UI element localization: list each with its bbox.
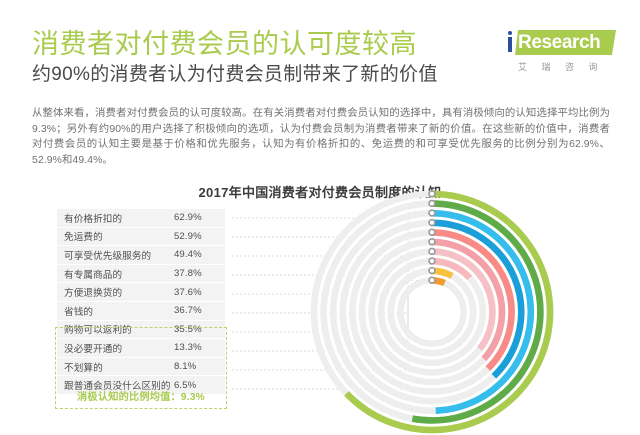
row-label: 有专属商品的 xyxy=(57,267,172,281)
row-label: 有价格折扣的 xyxy=(57,211,172,225)
row-label: 方便退换货的 xyxy=(57,285,172,299)
radial-track xyxy=(400,280,463,343)
infographic-page: 消费者对付费会员的认可度较高 约90%的消费者认为付费会员制带来了新的价值 Re… xyxy=(0,0,640,435)
row-label: 免运费的 xyxy=(57,229,172,243)
radial-marker-dot xyxy=(429,268,435,274)
table-row: 不划算的8.1% xyxy=(57,358,225,377)
table-row: 购物可以返利的35.5% xyxy=(57,321,225,340)
row-label: 可享受优先级服务的 xyxy=(57,248,172,262)
table-row: 可享受优先级服务的49.4% xyxy=(57,246,225,265)
radial-marker-dot xyxy=(429,258,435,264)
radial-marker-dot xyxy=(429,249,435,255)
row-value: 52.9% xyxy=(172,231,225,242)
radial-marker-dot xyxy=(429,277,435,283)
radial-spiral-chart xyxy=(300,188,640,435)
negative-mean-note: 消极认知的比例均值：9.3% xyxy=(57,388,225,403)
table-row: 没必要开通的13.3% xyxy=(57,339,225,358)
row-value: 13.3% xyxy=(172,342,225,353)
radial-marker-dot xyxy=(429,229,435,235)
radial-marker-dot xyxy=(429,210,435,216)
row-value: 62.9% xyxy=(172,212,225,223)
row-value: 8.1% xyxy=(172,361,225,372)
radial-marker-dot xyxy=(429,191,435,197)
row-label: 不划算的 xyxy=(57,360,172,374)
table-row: 免运费的52.9% xyxy=(57,228,225,247)
row-value: 36.7% xyxy=(172,305,225,316)
row-value: 37.6% xyxy=(172,287,225,298)
table-row: 有价格折扣的62.9% xyxy=(57,209,225,228)
table-row: 省钱的36.7% xyxy=(57,302,225,321)
data-table: 有价格折扣的62.9%免运费的52.9%可享受优先级服务的49.4%有专属商品的… xyxy=(57,209,225,395)
row-label: 没必要开通的 xyxy=(57,341,172,355)
radial-gap xyxy=(396,276,469,349)
radial-marker-dot xyxy=(429,220,435,226)
table-row: 有专属商品的37.8% xyxy=(57,265,225,284)
radial-marker-dot xyxy=(429,239,435,245)
radial-marker-dot xyxy=(429,201,435,207)
row-label: 购物可以返利的 xyxy=(57,322,172,336)
table-row: 方便退换货的37.6% xyxy=(57,283,225,302)
row-value: 37.8% xyxy=(172,268,225,279)
row-label: 省钱的 xyxy=(57,304,172,318)
row-value: 35.5% xyxy=(172,324,225,335)
row-value: 49.4% xyxy=(172,249,225,260)
